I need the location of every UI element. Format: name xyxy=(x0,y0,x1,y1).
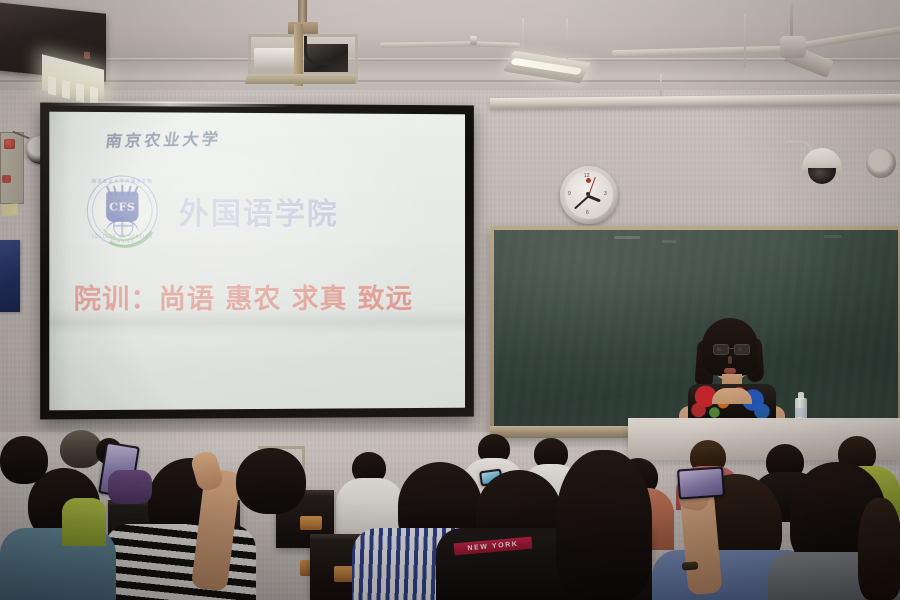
fan-stem xyxy=(790,2,793,38)
audience-head xyxy=(0,436,48,484)
dome-security-camera xyxy=(800,140,846,194)
audience-bag xyxy=(108,470,152,504)
fan-rod xyxy=(744,14,746,68)
wall-clock: 12 3 6 9 xyxy=(560,166,618,224)
audience-body xyxy=(62,498,106,546)
ceiling-seam-secondary xyxy=(0,80,900,82)
emblem-bottom-text: COLLEGE OF FOREIGN STUDIES xyxy=(86,234,159,244)
bottle-label xyxy=(795,408,807,417)
ceiling-fan xyxy=(700,24,900,68)
panel-button-icon[interactable] xyxy=(2,175,11,183)
wall-control-panel[interactable] xyxy=(0,132,24,204)
smartphone[interactable] xyxy=(677,466,725,499)
projected-slide: 南京农业大学 南京农业大学外国语学院 CFS xyxy=(49,112,465,411)
presenter-neckline xyxy=(712,388,752,404)
clock-numeral: 9 xyxy=(568,191,571,197)
ceiling-fan-distant xyxy=(380,36,520,52)
clock-numeral: 6 xyxy=(586,210,589,216)
panel-label-tag xyxy=(1,203,18,217)
round-wall-speaker-icon xyxy=(866,148,896,178)
college-emblem: 南京农业大学外国语学院 CFS COLLEGE OF FOREIGN STUDI… xyxy=(86,174,159,247)
speaker-led-icon xyxy=(84,51,90,59)
audience-head-longhair xyxy=(556,450,652,600)
screen-edge-shadow xyxy=(49,112,71,411)
university-calligraphy-logo: 南京农业大学 xyxy=(104,125,222,151)
light-rod xyxy=(566,18,568,60)
camera-lens-icon xyxy=(808,168,836,184)
ceiling-sensor-icon xyxy=(470,36,477,45)
fan-blade xyxy=(800,24,900,49)
slide-motto: 院训：尚语 惠农 求真 致远 xyxy=(74,277,413,317)
wristwatch xyxy=(682,561,699,570)
projector-wire xyxy=(304,36,333,65)
ceiling-projector xyxy=(246,0,358,88)
presenter-nose xyxy=(728,356,732,364)
clock-center-pin xyxy=(586,192,590,196)
audience-head xyxy=(236,448,306,514)
screen-glow xyxy=(49,112,465,411)
emergency-button-icon[interactable] xyxy=(4,139,15,149)
emblem-acronym: CFS xyxy=(106,201,138,214)
blue-wall-panel xyxy=(0,240,20,312)
projector-base xyxy=(245,74,356,84)
glasses-icon xyxy=(712,344,750,354)
lecture-hall-photo: 12 3 6 9 南京农业大学 南京农业大学外国语学院 xyxy=(0,0,900,600)
slide-title: 外国语学院 xyxy=(179,189,339,233)
audience-head xyxy=(858,498,900,600)
fan-hub xyxy=(780,36,806,58)
desk-wood-trim xyxy=(300,516,322,530)
clock-numeral: 3 xyxy=(604,191,607,197)
projection-screen-frame: 南京农业大学 南京农业大学外国语学院 CFS xyxy=(40,103,474,420)
clock-numeral: 12 xyxy=(584,173,590,179)
